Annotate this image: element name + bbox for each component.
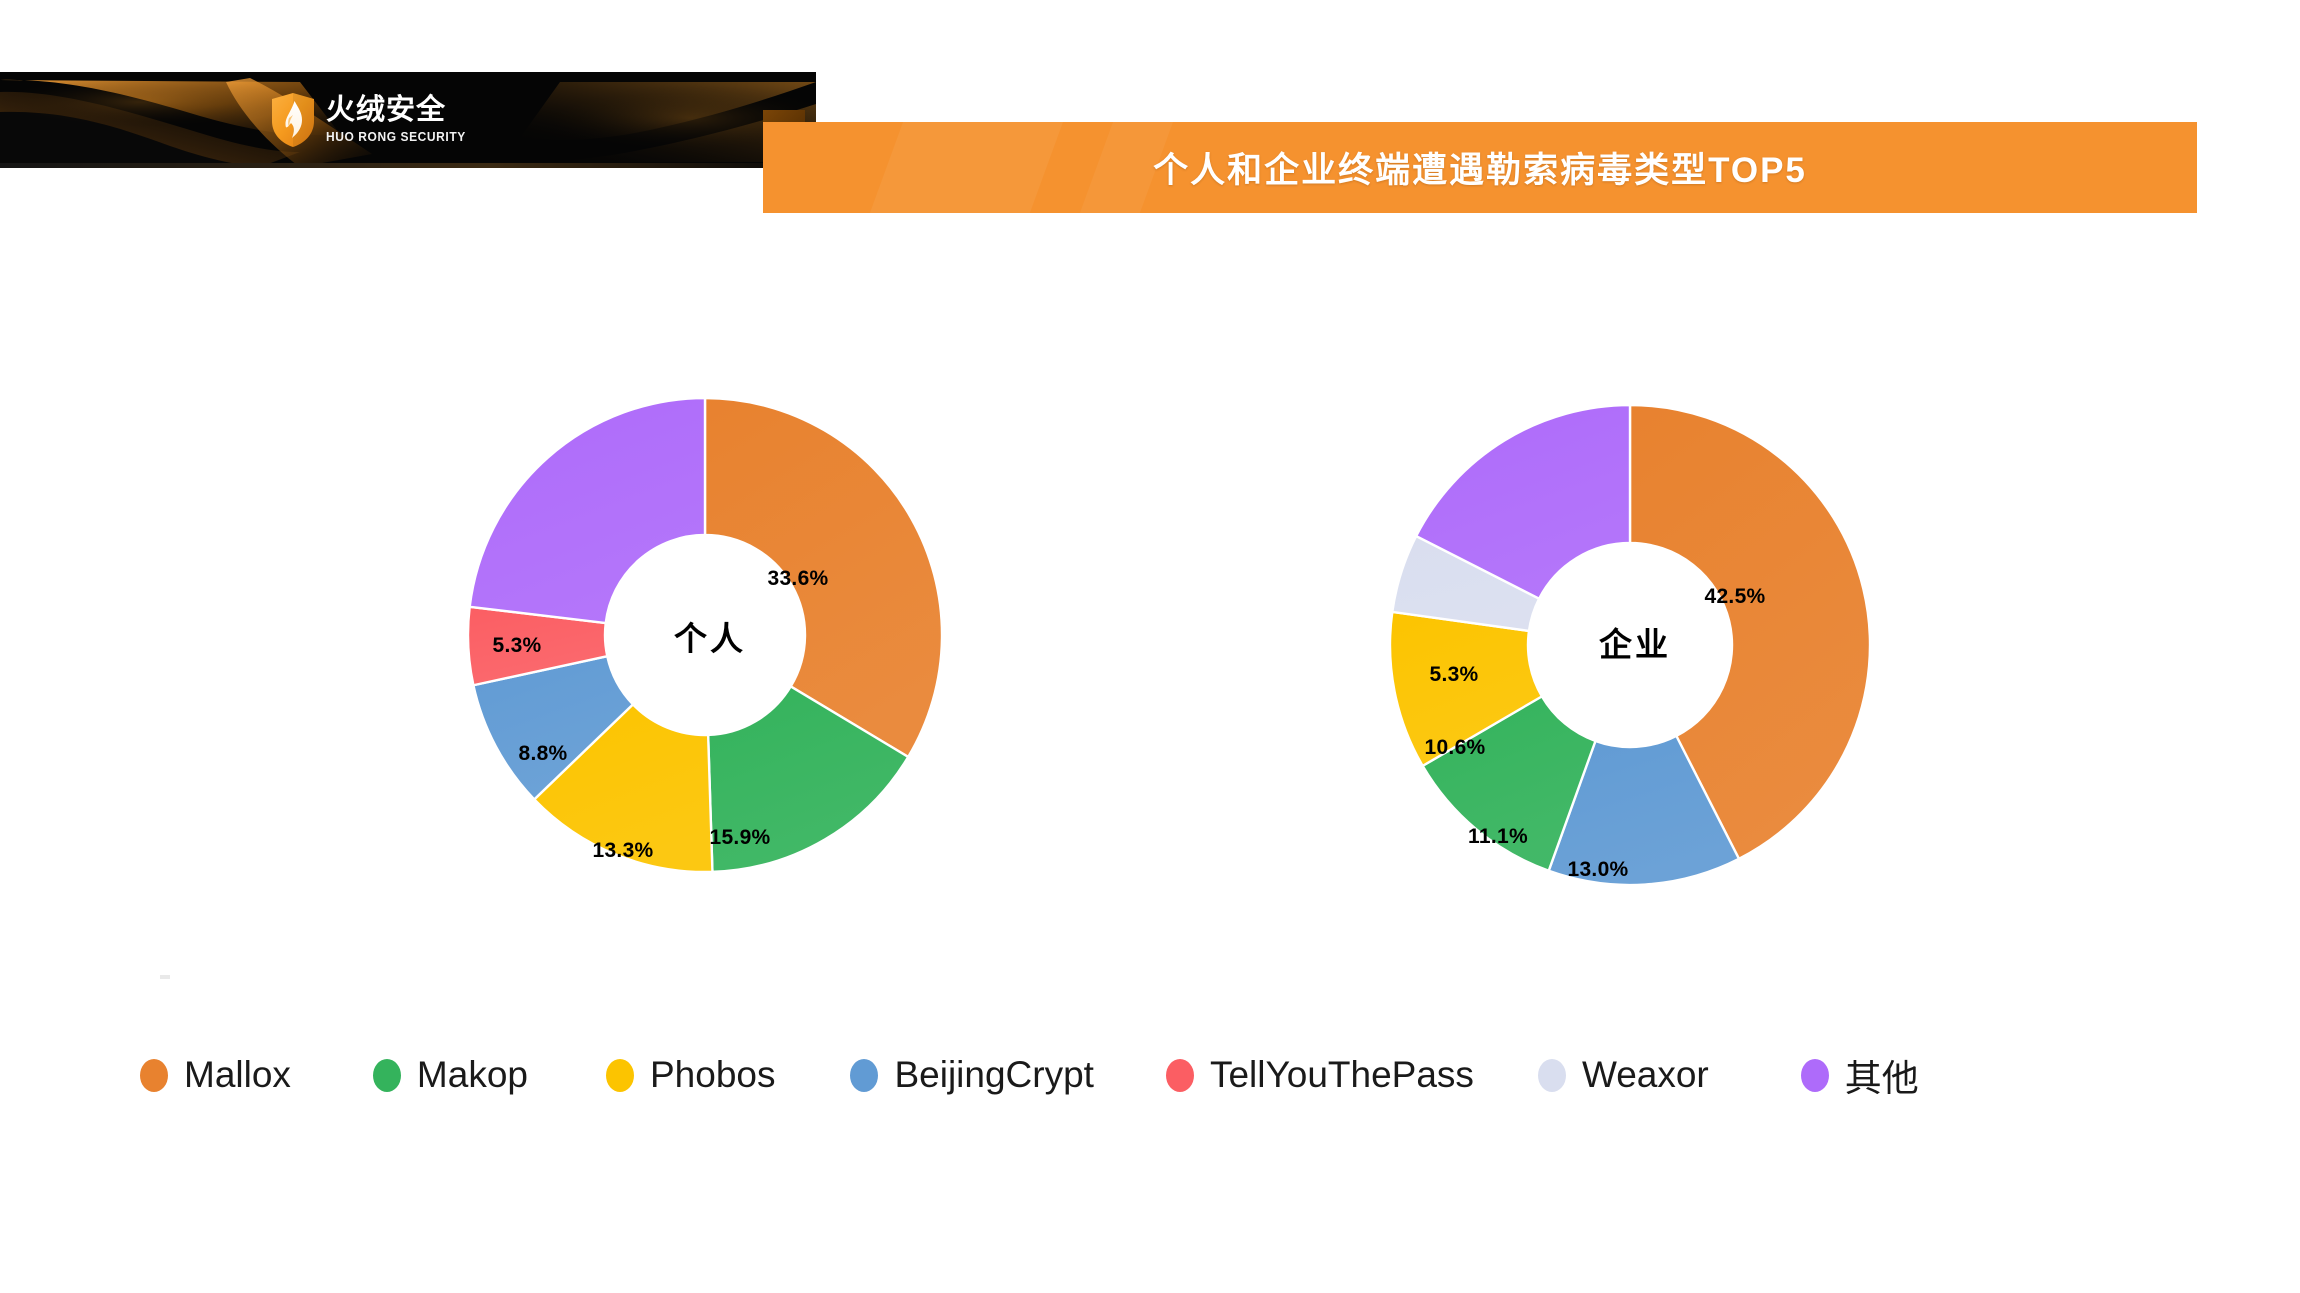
header-band-shadow — [0, 163, 816, 168]
legend-swatch-icon — [1166, 1059, 1194, 1092]
legend-item-weaxor[interactable]: Weaxor — [1538, 1054, 1709, 1096]
slice-percentage-label: 5.3% — [1429, 663, 1478, 687]
legend-swatch-icon — [1538, 1059, 1566, 1092]
donut-chart-enterprise: 企业 42.5%13.0%11.1%10.6%5.3% — [1335, 290, 1935, 990]
slice-percentage-label: 33.6% — [767, 567, 828, 591]
title-banner: 个人和企业终端遭遇勒索病毒类型TOP5 — [763, 122, 2197, 213]
legend-item-phobos[interactable]: Phobos — [606, 1054, 776, 1096]
brand-name-en: HUO RONG SECURITY — [326, 131, 466, 144]
legend-swatch-icon — [373, 1059, 401, 1092]
slice-percentage-label: 13.0% — [1567, 858, 1628, 882]
donut-slice — [470, 398, 705, 623]
legend-item-label: TellYouThePass — [1210, 1054, 1474, 1096]
decorative-mark — [160, 975, 170, 979]
legend-item-tellyouthepass[interactable]: TellYouThePass — [1166, 1054, 1474, 1096]
page-title: 个人和企业终端遭遇勒索病毒类型TOP5 — [763, 122, 2197, 213]
slice-percentage-label: 5.3% — [492, 634, 541, 658]
brand-name-block: 火绒安全 HUO RONG SECURITY — [326, 96, 472, 144]
donut-chart-personal: 个人 33.6%15.9%13.3%8.8%5.3% — [410, 290, 1010, 990]
legend-swatch-icon — [140, 1059, 168, 1092]
legend-item-label: Phobos — [650, 1054, 776, 1096]
slice-percentage-label: 11.1% — [1468, 825, 1528, 849]
legend-item-makop[interactable]: Makop — [373, 1054, 528, 1096]
slice-percentage-label: 13.3% — [592, 839, 653, 863]
legend-swatch-icon — [1801, 1059, 1829, 1092]
slice-percentage-label: 8.8% — [518, 742, 567, 766]
legend-item-label: BeijingCrypt — [894, 1054, 1093, 1096]
legend-swatch-icon — [850, 1059, 878, 1092]
legend-item-mallox[interactable]: Mallox — [140, 1054, 291, 1096]
charts-area: 个人 33.6%15.9%13.3%8.8%5.3% 企业 42.5%13.0%… — [0, 290, 2300, 990]
brand-logo-lockup: 火绒安全 HUO RONG SECURITY — [272, 84, 522, 156]
legend-item-label: Weaxor — [1582, 1054, 1709, 1096]
chart-legend: MalloxMakopPhobosBeijingCryptTellYouTheP… — [0, 1035, 2300, 1115]
legend-item-label: Mallox — [184, 1054, 291, 1096]
legend-item-beijingcrypt[interactable]: BeijingCrypt — [850, 1054, 1093, 1096]
slice-percentage-label: 15.9% — [709, 826, 770, 850]
brand-name-cn: 火绒安全 — [326, 96, 472, 125]
shield-flame-icon — [272, 93, 314, 147]
legend-item--[interactable]: 其他 — [1801, 1048, 1919, 1102]
legend-item-label: 其他 — [1845, 1048, 1919, 1102]
legend-swatch-icon — [606, 1059, 634, 1092]
legend-item-label: Makop — [417, 1054, 528, 1096]
donut-enterprise-center-label: 企业 — [1335, 618, 1935, 666]
slice-percentage-label: 10.6% — [1424, 736, 1485, 760]
slice-percentage-label: 42.5% — [1704, 585, 1765, 609]
